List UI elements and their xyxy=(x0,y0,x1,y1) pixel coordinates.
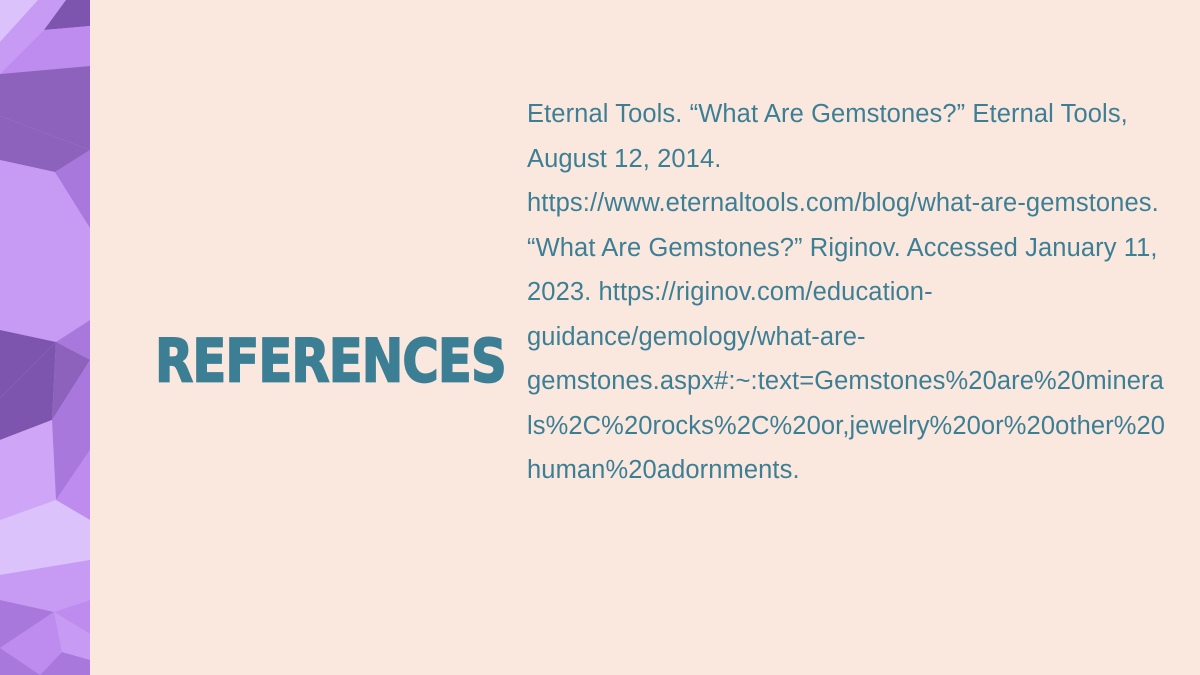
low-poly-graphic xyxy=(0,0,90,675)
reference-entry-riginov: “What Are Gemstones?” Riginov. Accessed … xyxy=(527,226,1167,493)
page-title: References xyxy=(155,332,506,391)
low-poly-purple-panel xyxy=(0,0,90,675)
references-list: Eternal Tools. “What Are Gemstones?” Ete… xyxy=(527,92,1167,493)
references-slide: References Eternal Tools. “What Are Gems… xyxy=(0,0,1200,675)
reference-entry-eternal-tools: Eternal Tools. “What Are Gemstones?” Ete… xyxy=(527,92,1167,226)
